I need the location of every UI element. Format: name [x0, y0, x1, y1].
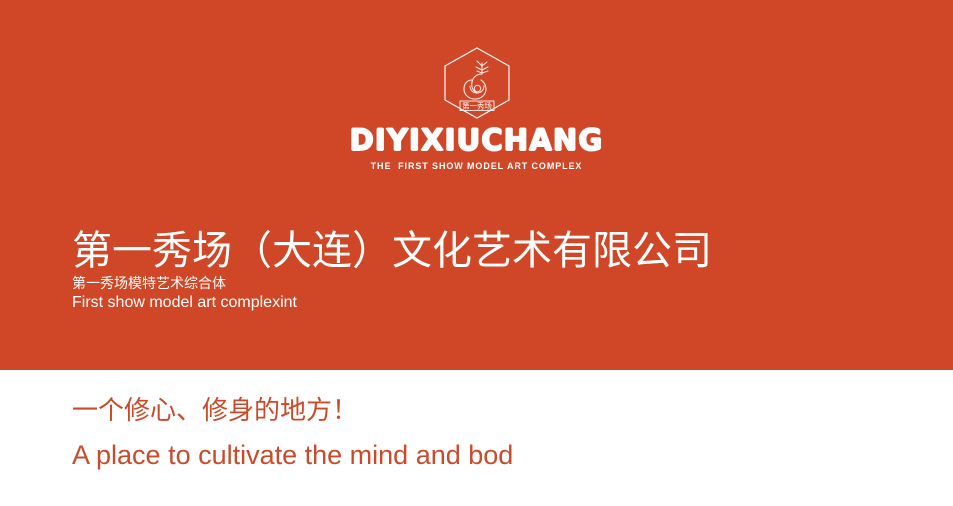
hero-banner: 第一秀场 DIYIXIUCHANG THE FIRST SHOW MODEL A…: [0, 0, 953, 370]
company-identity-block: 第一秀场（大连）文化艺术有限公司 第一秀场模特艺术综合体 First show …: [72, 228, 712, 313]
slogan-block: 一个修心、修身的地方！ A place to cultivate the min…: [72, 392, 513, 472]
company-tagline-english: First show model art complexint: [72, 293, 712, 313]
logo-wordmark-subtitle: THE FIRST SHOW MODEL ART COMPLEX: [0, 161, 953, 171]
slogan-english: A place to cultivate the mind and bod: [72, 438, 513, 472]
logo-badge-text: 第一秀场: [462, 102, 492, 111]
logo-lockup: 第一秀场 DIYIXIUCHANG THE FIRST SHOW MODEL A…: [0, 46, 953, 171]
hexagon-deer-emblem-icon: 第一秀场: [441, 46, 513, 120]
logo-wordmark: DIYIXIUCHANG: [0, 126, 953, 155]
company-name-chinese: 第一秀场（大连）文化艺术有限公司: [72, 228, 712, 274]
company-tagline-chinese: 第一秀场模特艺术综合体: [72, 276, 712, 293]
slogan-chinese: 一个修心、修身的地方！: [72, 392, 513, 430]
